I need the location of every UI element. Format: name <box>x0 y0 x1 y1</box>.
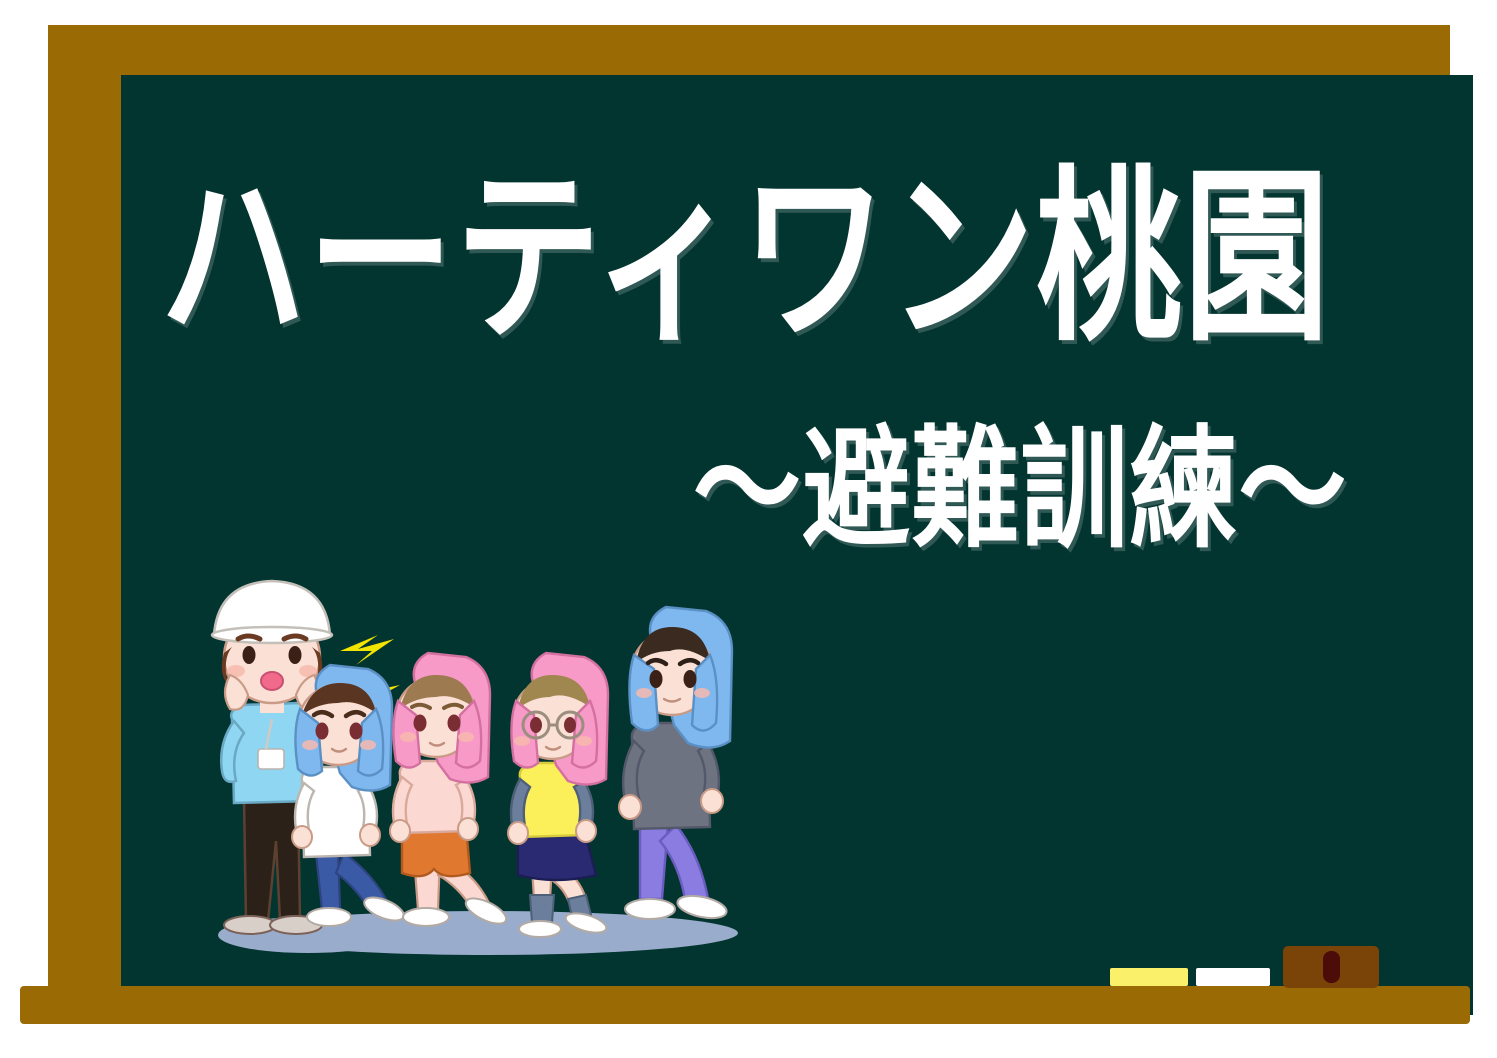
evacuation-drill-illustration <box>188 573 778 973</box>
whistle-sound-bolt <box>340 635 394 665</box>
poster-canvas: ハーティワン桃園 〜避難訓練〜 <box>0 0 1497 1058</box>
eraser-grip <box>1323 951 1340 983</box>
figure-child-pink-hood-glasses-girl <box>508 653 608 937</box>
figure-child-pink-hood-girl <box>390 653 510 929</box>
chalkboard-frame: ハーティワン桃園 〜避難訓練〜 <box>48 25 1450 990</box>
figure-child-blue-hood-tall-boy <box>619 607 732 922</box>
whistle <box>261 672 283 690</box>
chalkboard-surface: ハーティワン桃園 〜避難訓練〜 <box>121 75 1473 1015</box>
chalk-tray-ledge <box>20 986 1470 1024</box>
board-title-subtitle: 〜避難訓練〜 <box>693 425 1347 557</box>
blackboard-eraser[interactable] <box>1283 946 1379 988</box>
board-title-main: ハーティワン桃園 <box>160 165 1331 352</box>
white-chalk[interactable] <box>1196 968 1270 986</box>
figure-child-blue-hood-boy <box>292 665 407 926</box>
yellow-chalk[interactable] <box>1110 968 1188 986</box>
